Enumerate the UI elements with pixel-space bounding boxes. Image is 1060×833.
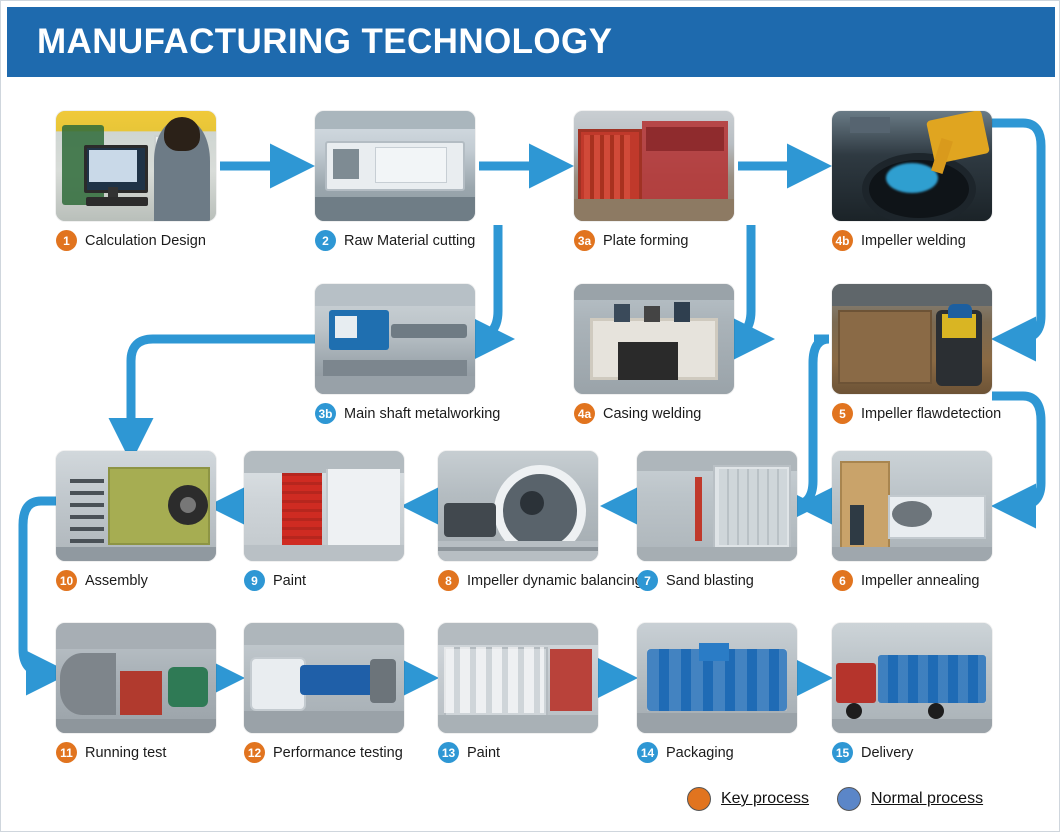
step-node-5[interactable]: 5 Impeller flawdetection — [832, 284, 1001, 424]
step-thumbnail-final-paint[interactable] — [438, 623, 598, 733]
flowchart-page: MANUFACTURING TECHNOLOGY — [0, 0, 1060, 832]
legend-dot-normal-process — [837, 787, 861, 811]
step-thumbnail-paint-booth[interactable] — [244, 451, 404, 561]
step-caption-5: 5 Impeller flawdetection — [832, 403, 1001, 424]
step-caption-14: 14 Packaging — [637, 742, 797, 763]
step-node-3b[interactable]: 3b Main shaft metalworking — [315, 284, 500, 424]
step-thumbnail-impeller-dynamic-balancing[interactable] — [438, 451, 598, 561]
step-badge-4a: 4a — [574, 403, 595, 424]
step-badge-13: 13 — [438, 742, 459, 763]
step-badge-7: 7 — [637, 570, 658, 591]
step-thumbnail-impeller-annealing[interactable] — [832, 451, 992, 561]
step-thumbnail-impeller-welding[interactable] — [832, 111, 992, 221]
step-label-1: Calculation Design — [85, 233, 206, 249]
legend-label-key-process: Key process — [721, 790, 809, 808]
step-thumbnail-packaging[interactable] — [637, 623, 797, 733]
step-label-7: Sand blasting — [666, 573, 754, 589]
legend-item-key-process: Key process — [687, 787, 809, 811]
step-caption-7: 7 Sand blasting — [637, 570, 797, 591]
arrow-3b-to-10 — [131, 339, 315, 445]
step-node-7[interactable]: 7 Sand blasting — [637, 451, 797, 591]
step-node-11[interactable]: 11 Running test — [56, 623, 216, 763]
step-label-2: Raw Material cutting — [344, 233, 475, 249]
step-caption-4a: 4a Casing welding — [574, 403, 734, 424]
step-label-10: Assembly — [85, 573, 148, 589]
step-badge-11: 11 — [56, 742, 77, 763]
step-node-4a[interactable]: 4a Casing welding — [574, 284, 734, 424]
step-thumbnail-plate-forming[interactable] — [574, 111, 734, 221]
step-node-3a[interactable]: 3a Plate forming — [574, 111, 734, 251]
step-node-14[interactable]: 14 Packaging — [637, 623, 797, 763]
step-label-13: Paint — [467, 745, 500, 761]
step-caption-1: 1 Calculation Design — [56, 230, 216, 251]
step-label-14: Packaging — [666, 745, 734, 761]
step-caption-15: 15 Delivery — [832, 742, 992, 763]
step-thumbnail-calculation-design[interactable] — [56, 111, 216, 221]
step-node-15[interactable]: 15 Delivery — [832, 623, 992, 763]
step-badge-5: 5 — [832, 403, 853, 424]
step-thumbnail-impeller-flawdetection[interactable] — [832, 284, 992, 394]
step-caption-3b: 3b Main shaft metalworking — [315, 403, 500, 424]
step-label-3a: Plate forming — [603, 233, 688, 249]
step-badge-10: 10 — [56, 570, 77, 591]
step-node-8[interactable]: 8 Impeller dynamic balancing — [438, 451, 643, 591]
step-thumbnail-casing-welding[interactable] — [574, 284, 734, 394]
legend: Key process Normal process — [687, 787, 983, 811]
step-label-4b: Impeller welding — [861, 233, 966, 249]
step-badge-8: 8 — [438, 570, 459, 591]
step-node-9[interactable]: 9 Paint — [244, 451, 404, 591]
legend-dot-key-process — [687, 787, 711, 811]
step-badge-9: 9 — [244, 570, 265, 591]
step-badge-2: 2 — [315, 230, 336, 251]
step-thumbnail-running-test[interactable] — [56, 623, 216, 733]
step-thumbnail-delivery[interactable] — [832, 623, 992, 733]
step-label-4a: Casing welding — [603, 406, 701, 422]
step-badge-14: 14 — [637, 742, 658, 763]
step-label-8: Impeller dynamic balancing — [467, 573, 643, 589]
legend-item-normal-process: Normal process — [837, 787, 983, 811]
step-caption-11: 11 Running test — [56, 742, 216, 763]
step-label-5: Impeller flawdetection — [861, 406, 1001, 422]
step-caption-3a: 3a Plate forming — [574, 230, 734, 251]
step-badge-12: 12 — [244, 742, 265, 763]
step-node-1[interactable]: 1 Calculation Design — [56, 111, 216, 251]
step-badge-1: 1 — [56, 230, 77, 251]
step-badge-15: 15 — [832, 742, 853, 763]
step-label-9: Paint — [273, 573, 306, 589]
step-caption-6: 6 Impeller annealing — [832, 570, 992, 591]
step-node-13[interactable]: 13 Paint — [438, 623, 598, 763]
step-caption-13: 13 Paint — [438, 742, 598, 763]
legend-label-normal-process: Normal process — [871, 790, 983, 808]
step-node-2[interactable]: 2 Raw Material cutting — [315, 111, 475, 251]
step-label-11: Running test — [85, 745, 166, 761]
step-caption-2: 2 Raw Material cutting — [315, 230, 475, 251]
step-caption-4b: 4b Impeller welding — [832, 230, 992, 251]
page-title: MANUFACTURING TECHNOLOGY — [37, 22, 612, 62]
step-caption-8: 8 Impeller dynamic balancing — [438, 570, 643, 591]
step-caption-10: 10 Assembly — [56, 570, 216, 591]
step-thumbnail-sand-blasting[interactable] — [637, 451, 797, 561]
arrow-10-to-11 — [23, 501, 56, 673]
step-caption-12: 12 Performance testing — [244, 742, 404, 763]
step-thumbnail-performance-testing[interactable] — [244, 623, 404, 733]
step-label-12: Performance testing — [273, 745, 403, 761]
step-thumbnail-main-shaft-metalworking[interactable] — [315, 284, 475, 394]
step-node-10[interactable]: 10 Assembly — [56, 451, 216, 591]
step-thumbnail-assembly[interactable] — [56, 451, 216, 561]
step-badge-4b: 4b — [832, 230, 853, 251]
step-label-3b: Main shaft metalworking — [344, 406, 500, 422]
page-header: MANUFACTURING TECHNOLOGY — [7, 7, 1055, 77]
step-node-6[interactable]: 6 Impeller annealing — [832, 451, 992, 591]
step-thumbnail-raw-material-cutting[interactable] — [315, 111, 475, 221]
step-label-6: Impeller annealing — [861, 573, 980, 589]
step-node-4b[interactable]: 4b Impeller welding — [832, 111, 992, 251]
step-badge-3b: 3b — [315, 403, 336, 424]
step-badge-6: 6 — [832, 570, 853, 591]
step-label-15: Delivery — [861, 745, 913, 761]
step-node-12[interactable]: 12 Performance testing — [244, 623, 404, 763]
step-badge-3a: 3a — [574, 230, 595, 251]
step-caption-9: 9 Paint — [244, 570, 404, 591]
